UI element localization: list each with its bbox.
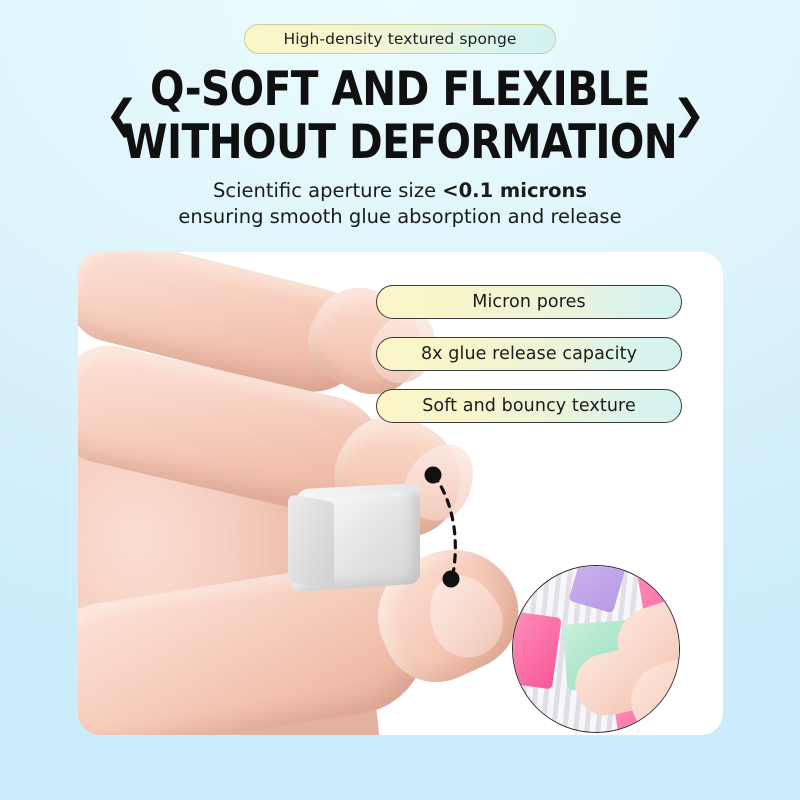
headline-line-2: WITHOUT DEFORMATION [16, 119, 784, 167]
subtitle: Scientific aperture size <0.1 microns en… [0, 178, 800, 230]
subtitle-highlight: <0.1 microns [442, 179, 587, 202]
feature-pill-glue-release: 8x glue release capacity [376, 337, 682, 371]
banner-pill: High-density textured sponge [244, 24, 556, 54]
feature-pill-micron-pores: Micron pores [376, 285, 682, 319]
inset-photo [512, 565, 680, 733]
feature-pill-label: Soft and bouncy texture [422, 396, 636, 416]
arc-dot-bottom [443, 571, 460, 588]
subtitle-line-2: ensuring smooth glue absorption and rele… [0, 204, 800, 230]
product-infographic: High-density textured sponge ❮ ❯ Q-SOFT … [0, 0, 800, 800]
sponge-side-face [288, 494, 334, 590]
feature-pill-label: 8x glue release capacity [421, 344, 637, 364]
flex-arc-annotation [412, 455, 482, 600]
feature-pill-label: Micron pores [472, 292, 585, 312]
subtitle-line-1: Scientific aperture size <0.1 microns [0, 178, 800, 204]
dashed-arc-line [434, 475, 455, 579]
subtitle-prefix: Scientific aperture size [213, 179, 442, 202]
arc-dot-top [425, 467, 442, 484]
banner-label: High-density textured sponge [283, 30, 516, 48]
headline: Q-SOFT AND FLEXIBLE WITHOUT DEFORMATION [0, 66, 800, 167]
feature-pill-bouncy-texture: Soft and bouncy texture [376, 389, 682, 423]
headline-line-1: Q-SOFT AND FLEXIBLE [16, 66, 784, 114]
